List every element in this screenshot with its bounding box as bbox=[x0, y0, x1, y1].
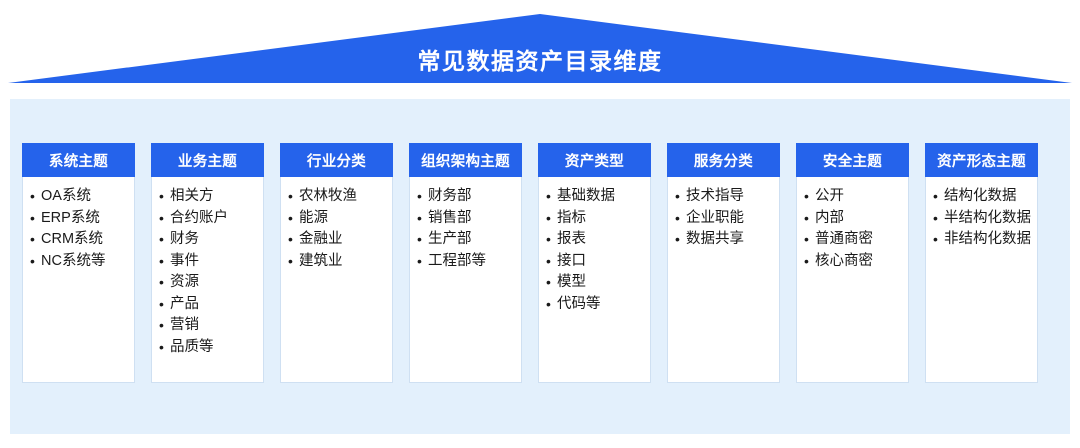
item-list: OA系统 ERP系统 CRM系统 NC系统等 bbox=[30, 186, 130, 271]
list-item: 普通商密 bbox=[804, 229, 904, 250]
list-item: 金融业 bbox=[288, 229, 388, 250]
dimension-card-org-structure-theme[interactable]: 组织架构主题 财务部 销售部 生产部 工程部等 bbox=[409, 143, 522, 383]
list-item: 工程部等 bbox=[417, 251, 517, 272]
list-item: 品质等 bbox=[159, 337, 259, 358]
list-item: 技术指导 bbox=[675, 186, 775, 207]
list-item: 企业职能 bbox=[675, 208, 775, 229]
card-body: 相关方 合约账户 财务 事件 资源 产品 营销 品质等 bbox=[152, 177, 263, 382]
list-item: ERP系统 bbox=[30, 208, 130, 229]
item-list: 公开 内部 普通商密 核心商密 bbox=[804, 186, 904, 271]
list-item: 报表 bbox=[546, 229, 646, 250]
list-item: 半结构化数据 bbox=[933, 208, 1033, 229]
dimension-card-asset-type[interactable]: 资产类型 基础数据 指标 报表 接口 模型 代码等 bbox=[538, 143, 651, 383]
list-item: 生产部 bbox=[417, 229, 517, 250]
list-item: 代码等 bbox=[546, 294, 646, 315]
card-body: 技术指导 企业职能 数据共享 bbox=[668, 177, 779, 382]
list-item: OA系统 bbox=[30, 186, 130, 207]
dimension-cards-row: 系统主题 OA系统 ERP系统 CRM系统 NC系统等 业务主题 相关方 合约账… bbox=[22, 143, 1058, 383]
card-body: 基础数据 指标 报表 接口 模型 代码等 bbox=[539, 177, 650, 382]
list-item: 结构化数据 bbox=[933, 186, 1033, 207]
dimension-card-security-theme[interactable]: 安全主题 公开 内部 普通商密 核心商密 bbox=[796, 143, 909, 383]
list-item: 内部 bbox=[804, 208, 904, 229]
dimension-card-industry-category[interactable]: 行业分类 农林牧渔 能源 金融业 建筑业 bbox=[280, 143, 393, 383]
item-list: 相关方 合约账户 财务 事件 资源 产品 营销 品质等 bbox=[159, 186, 259, 357]
list-item: 农林牧渔 bbox=[288, 186, 388, 207]
item-list: 技术指导 企业职能 数据共享 bbox=[675, 186, 775, 250]
list-item: 营销 bbox=[159, 315, 259, 336]
list-item: 财务 bbox=[159, 229, 259, 250]
item-list: 结构化数据 半结构化数据 非结构化数据 bbox=[933, 186, 1033, 250]
page-title: 常见数据资产目录维度 bbox=[0, 47, 1080, 75]
list-item: 数据共享 bbox=[675, 229, 775, 250]
card-header-label: 服务分类 bbox=[667, 143, 780, 177]
card-body: 公开 内部 普通商密 核心商密 bbox=[797, 177, 908, 382]
list-item: 建筑业 bbox=[288, 251, 388, 272]
card-header-label: 系统主题 bbox=[22, 143, 135, 177]
dimension-card-system-theme[interactable]: 系统主题 OA系统 ERP系统 CRM系统 NC系统等 bbox=[22, 143, 135, 383]
card-header-label: 行业分类 bbox=[280, 143, 393, 177]
list-item: 事件 bbox=[159, 251, 259, 272]
card-body: OA系统 ERP系统 CRM系统 NC系统等 bbox=[23, 177, 134, 382]
list-item: 公开 bbox=[804, 186, 904, 207]
list-item: 销售部 bbox=[417, 208, 517, 229]
card-body: 农林牧渔 能源 金融业 建筑业 bbox=[281, 177, 392, 382]
item-list: 农林牧渔 能源 金融业 建筑业 bbox=[288, 186, 388, 271]
list-item: 相关方 bbox=[159, 186, 259, 207]
list-item: 核心商密 bbox=[804, 251, 904, 272]
slide-canvas: 常见数据资产目录维度 系统主题 OA系统 ERP系统 CRM系统 NC系统等 业… bbox=[0, 0, 1080, 448]
list-item: 资源 bbox=[159, 272, 259, 293]
list-item: 指标 bbox=[546, 208, 646, 229]
list-item: 接口 bbox=[546, 251, 646, 272]
list-item: 合约账户 bbox=[159, 208, 259, 229]
banner-roof: 常见数据资产目录维度 bbox=[0, 0, 1080, 86]
card-body: 财务部 销售部 生产部 工程部等 bbox=[410, 177, 521, 382]
list-item: CRM系统 bbox=[30, 229, 130, 250]
card-header-label: 资产类型 bbox=[538, 143, 651, 177]
list-item: 基础数据 bbox=[546, 186, 646, 207]
dimension-card-business-theme[interactable]: 业务主题 相关方 合约账户 财务 事件 资源 产品 营销 品质等 bbox=[151, 143, 264, 383]
card-header-label: 业务主题 bbox=[151, 143, 264, 177]
dimension-card-asset-form-theme[interactable]: 资产形态主题 结构化数据 半结构化数据 非结构化数据 bbox=[925, 143, 1038, 383]
card-header-label: 安全主题 bbox=[796, 143, 909, 177]
card-body: 结构化数据 半结构化数据 非结构化数据 bbox=[926, 177, 1037, 382]
list-item: 财务部 bbox=[417, 186, 517, 207]
dimension-card-service-category[interactable]: 服务分类 技术指导 企业职能 数据共享 bbox=[667, 143, 780, 383]
list-item: NC系统等 bbox=[30, 251, 130, 272]
card-header-label: 组织架构主题 bbox=[409, 143, 522, 177]
card-header-label: 资产形态主题 bbox=[925, 143, 1038, 177]
list-item: 模型 bbox=[546, 272, 646, 293]
item-list: 基础数据 指标 报表 接口 模型 代码等 bbox=[546, 186, 646, 314]
list-item: 非结构化数据 bbox=[933, 229, 1033, 250]
list-item: 能源 bbox=[288, 208, 388, 229]
list-item: 产品 bbox=[159, 294, 259, 315]
item-list: 财务部 销售部 生产部 工程部等 bbox=[417, 186, 517, 271]
